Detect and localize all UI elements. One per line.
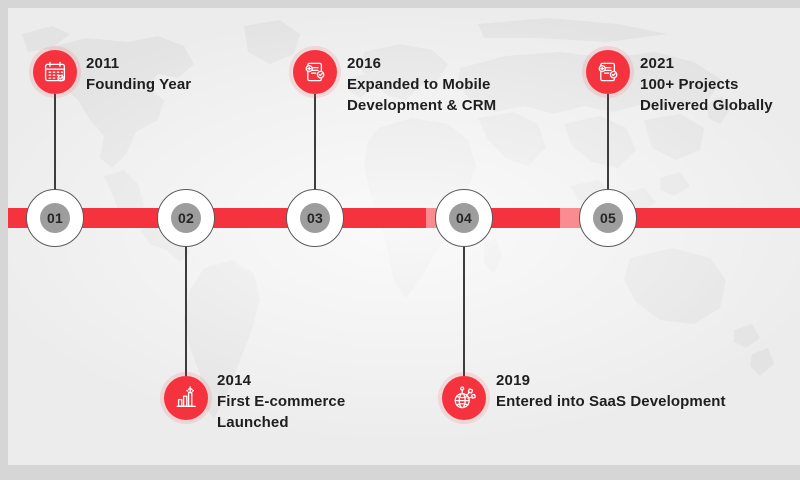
timeline-node-label-03: 03: [300, 203, 330, 233]
growth-chart-icon: [174, 386, 198, 410]
milestone-icon-bubble-04[interactable]: [442, 376, 486, 420]
milestone-caption-03: 2016 Expanded to Mobile Development & CR…: [347, 54, 496, 116]
mobile-document-icon: [596, 60, 620, 84]
milestone-description-03: Expanded to Mobile Development & CRM: [347, 74, 496, 116]
timeline-node-04[interactable]: 04: [435, 189, 493, 247]
calendar-icon: [43, 60, 67, 84]
milestone-year-04: 2019: [496, 371, 726, 391]
milestone-caption-02: 2014 First E-commerce Launched: [217, 371, 345, 433]
milestone-icon-bubble-02[interactable]: [164, 376, 208, 420]
milestone-year-02: 2014: [217, 371, 345, 391]
milestone-year-01: 2011: [86, 54, 191, 74]
milestone-description-02: First E-commerce Launched: [217, 391, 345, 433]
milestone-icon-bubble-05[interactable]: [586, 50, 630, 94]
connector-stem-03: [314, 94, 316, 190]
milestone-description-05: 100+ Projects Delivered Globally: [640, 74, 773, 116]
milestone-icon-bubble-01[interactable]: [33, 50, 77, 94]
timeline-node-03[interactable]: 03: [286, 189, 344, 247]
milestone-caption-04: 2019 Entered into SaaS Development: [496, 371, 726, 412]
milestone-year-05: 2021: [640, 54, 773, 74]
milestone-icon-bubble-03[interactable]: [293, 50, 337, 94]
milestone-caption-05: 2021 100+ Projects Delivered Globally: [640, 54, 773, 116]
mobile-document-icon: [303, 60, 327, 84]
timeline-node-label-05: 05: [593, 203, 623, 233]
connector-stem-02: [185, 246, 187, 376]
timeline-node-02[interactable]: 02: [157, 189, 215, 247]
timeline-rail: [8, 208, 800, 228]
timeline-node-label-01: 01: [40, 203, 70, 233]
globe-network-icon: [452, 386, 476, 410]
timeline-node-05[interactable]: 05: [579, 189, 637, 247]
timeline-node-label-04: 04: [449, 203, 479, 233]
milestone-description-01: Founding Year: [86, 74, 191, 95]
timeline-node-01[interactable]: 01: [26, 189, 84, 247]
connector-stem-04: [463, 246, 465, 376]
timeline-node-label-02: 02: [171, 203, 201, 233]
milestone-year-03: 2016: [347, 54, 496, 74]
infographic-canvas: 01 02 03 04 05: [0, 0, 800, 480]
milestone-caption-01: 2011 Founding Year: [86, 54, 191, 95]
milestone-description-04: Entered into SaaS Development: [496, 391, 726, 412]
connector-stem-01: [54, 94, 56, 190]
timeline-stage: 01 02 03 04 05: [8, 8, 800, 465]
connector-stem-05: [607, 94, 609, 190]
